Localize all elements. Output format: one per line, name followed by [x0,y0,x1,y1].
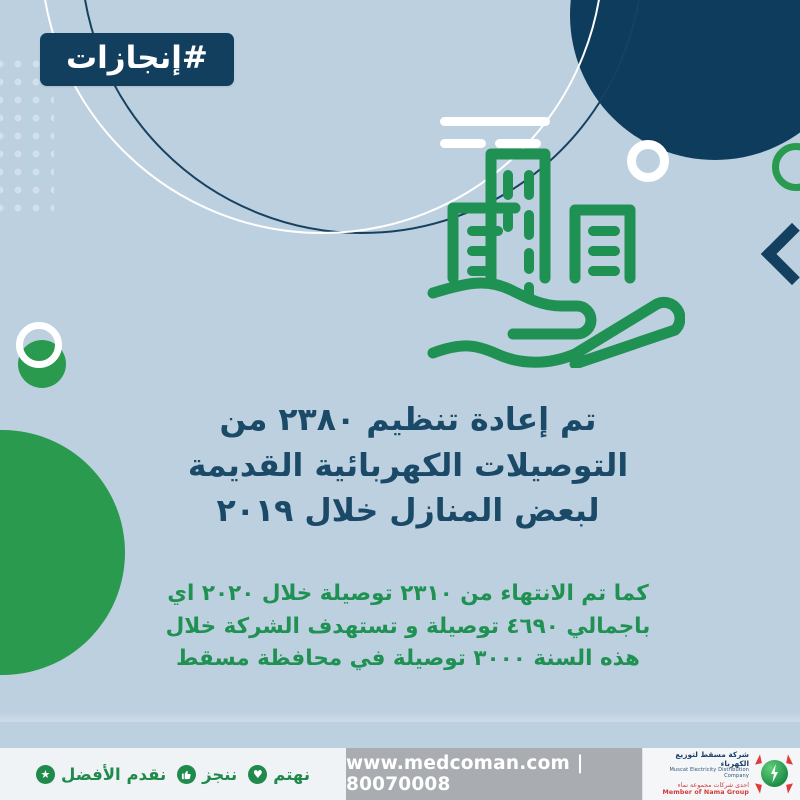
subheadline-line-3: هذه السنة ٣٠٠٠ توصيلة في محافظة مسقط [108,643,708,676]
slogans-group: نهتم ♥ ننجز نقدم الأفضل ★ [0,748,346,800]
headline: تم إعادة تنظيم ٢٣٨٠ من التوصيلات الكهربا… [108,398,708,535]
star-icon: ★ [36,765,55,784]
white-ring-left-icon [16,322,62,368]
logo-english-group: Member of Nama Group [649,789,749,796]
navy-chevron-icon [761,223,800,285]
logo-arrow-bottom-right [786,783,795,793]
slogan-nahtam: نهتم ♥ [248,765,310,784]
logo-arrow-top-right [786,754,795,764]
green-blob-circle [0,430,125,675]
slogan-nuqaddim-alafdal: نقدم الأفضل ★ [36,765,166,784]
green-dot-circle [18,340,66,388]
headline-line-2: التوصيلات الكهربائية القديمة [108,444,708,490]
subheadline-line-2: باجمالي ٤٦٩٠ توصيلة و تستهدف الشركة خلال [108,611,708,644]
slogan-label-nunjiz: ننجز [202,765,237,784]
logo-arrow-bottom-left [753,783,762,793]
logo-arrow-top-left [753,754,762,764]
hand-holding-buildings-icon [425,118,685,368]
logo-text-block: شركة مسقط لتوزيع الكهرباء Muscat Electri… [649,751,749,796]
green-ring-icon [772,143,800,191]
slogan-label-nuqaddim: نقدم الأفضل [61,765,166,784]
logo-mark-icon [754,755,794,793]
thumbs-up-icon [177,765,196,784]
slogan-label-nahtam: نهتم [273,765,310,784]
headline-line-1: تم إعادة تنظيم ٢٣٨٠ من [108,398,708,444]
infographic-poster: #إنجازات [0,0,800,800]
logo-arabic-name: شركة مسقط لتوزيع الكهرباء [649,751,749,768]
logo-english-name: Muscat Electricity Distribution Company [649,768,749,779]
headline-line-3: لبعض المنازل خلال ٢٠١٩ [108,489,708,535]
contact-bar[interactable]: www.medcoman.com | 80070008 [346,748,642,800]
logo-arabic-group: احدى شركات مجموعة نماء [649,782,749,789]
subheadline-line-1: كما تم الانتهاء من ٢٣١٠ توصيلة خلال ٢٠٢٠… [108,578,708,611]
slogan-nunjiz: ننجز [177,765,237,784]
hashtag-badge: #إنجازات [40,33,234,86]
heart-icon: ♥ [248,765,267,784]
bottom-soft-band [0,712,800,722]
footer-bar: شركة مسقط لتوزيع الكهرباء Muscat Electri… [0,748,800,800]
subheadline: كما تم الانتهاء من ٢٣١٠ توصيلة خلال ٢٠٢٠… [108,578,708,676]
company-logo: شركة مسقط لتوزيع الكهرباء Muscat Electri… [642,748,800,800]
